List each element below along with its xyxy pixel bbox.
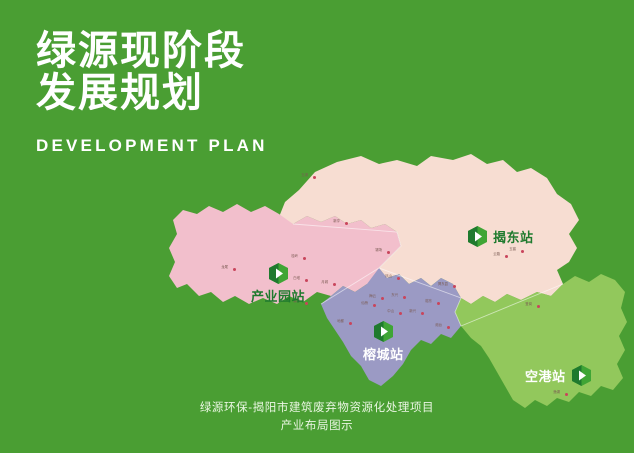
- town-label: 玉湖: [301, 173, 308, 177]
- town-dot-icon: [437, 302, 440, 305]
- town-label: 地都: [337, 319, 344, 323]
- town-dot-icon: [505, 255, 508, 258]
- town-dot-icon: [345, 222, 348, 225]
- town-label: 渔湖: [553, 390, 560, 394]
- page-subtitle: DEVELOPMENT PLAN: [36, 136, 268, 156]
- town-label: 梅云: [369, 294, 376, 298]
- town-label: 榕东: [425, 299, 432, 303]
- town-dot-icon: [397, 277, 400, 280]
- town-label: 桂岭: [291, 254, 298, 258]
- station-label-rongcheng: 榕城站: [363, 344, 404, 363]
- town-label: 东兴: [391, 293, 398, 297]
- station-label-jiedong: 揭东站: [493, 227, 534, 246]
- town-dot-icon: [387, 251, 390, 254]
- town-dot-icon: [303, 257, 306, 260]
- station-label-chanyeyuan: 产业园站: [251, 286, 305, 305]
- caption-line-2: 产业布局图示: [0, 417, 634, 435]
- lvyuan-logo-icon: [468, 226, 487, 247]
- lvyuan-logo-icon: [374, 321, 393, 342]
- town-label: 锡场: [375, 248, 382, 252]
- town-label: 玉窖: [509, 247, 516, 251]
- station-marker-jiedong[interactable]: 揭东站: [468, 226, 534, 247]
- town-dot-icon: [305, 279, 308, 282]
- town-label: 揭东县: [438, 282, 448, 286]
- town-dot-icon: [403, 296, 406, 299]
- town-label: 新亨: [333, 219, 340, 223]
- station-marker-rongcheng[interactable]: 榕城站: [363, 321, 404, 363]
- poster-canvas: 绿源现阶段 发展规划 DEVELOPMENT PLAN 玉湖新亨锡场桂岭白塔龙尾…: [0, 0, 634, 453]
- lvyuan-logo-icon: [572, 365, 591, 386]
- town-dot-icon: [349, 322, 352, 325]
- caption-line-1: 绿源环保-揭阳市建筑废弃物资源化处理项目: [0, 399, 634, 417]
- town-dot-icon: [333, 283, 336, 286]
- town-label: 龙尾: [221, 265, 228, 269]
- station-label-konggang: 空港站: [525, 366, 566, 385]
- page-title-line-1: 绿源现阶段: [36, 30, 268, 72]
- town-label: 中山: [387, 309, 394, 313]
- town-label: 凤山: [385, 274, 392, 278]
- town-dot-icon: [313, 176, 316, 179]
- town-label: 新兴: [409, 309, 416, 313]
- town-label: 云路: [493, 252, 500, 256]
- town-label: 登岗: [525, 302, 532, 306]
- town-dot-icon: [537, 305, 540, 308]
- caption-block: 绿源环保-揭阳市建筑废弃物资源化处理项目 产业布局图示: [0, 399, 634, 435]
- town-dot-icon: [453, 285, 456, 288]
- town-dot-icon: [421, 312, 424, 315]
- town-dot-icon: [565, 393, 568, 396]
- town-dot-icon: [233, 268, 236, 271]
- station-marker-konggang[interactable]: 空港站: [525, 365, 591, 386]
- lvyuan-logo-icon: [269, 263, 288, 284]
- page-title-line-2: 发展规划: [36, 72, 268, 114]
- town-label: 仙桥: [361, 301, 368, 305]
- town-label: 月城: [321, 280, 328, 284]
- title-block: 绿源现阶段 发展规划 DEVELOPMENT PLAN: [36, 30, 268, 156]
- town-dot-icon: [305, 302, 308, 305]
- town-dot-icon: [521, 250, 524, 253]
- town-dot-icon: [381, 297, 384, 300]
- station-marker-chanyeyuan[interactable]: 产业园站: [251, 263, 305, 305]
- town-dot-icon: [373, 304, 376, 307]
- town-dot-icon: [399, 312, 402, 315]
- town-label: 炮台: [435, 323, 442, 327]
- town-dot-icon: [447, 326, 450, 329]
